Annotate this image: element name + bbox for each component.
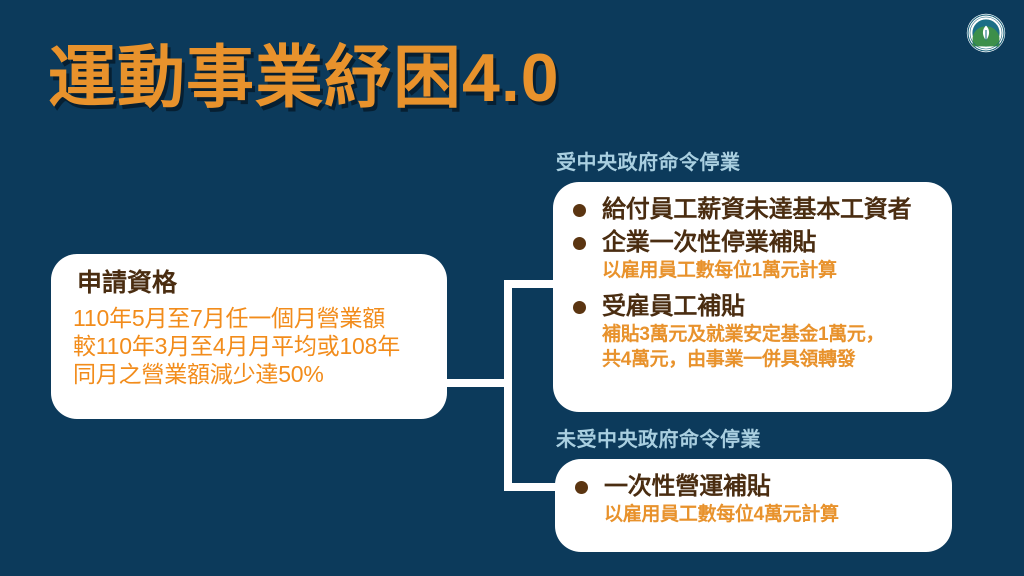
list-item-title: 受雇員工補貼 xyxy=(602,291,938,322)
not-mandated-suspension-card: 一次性營運補貼 以雇用員工數每位4萬元計算 xyxy=(555,459,952,552)
eligibility-card: 申請資格 110年5月至7月任一個月營業額 較110年3月至4月月平均或108年… xyxy=(51,254,447,419)
eligibility-heading: 申請資格 xyxy=(77,268,425,299)
section-label-not-mandated: 未受中央政府命令停業 xyxy=(556,423,761,452)
section-label-mandated: 受中央政府命令停業 xyxy=(556,146,741,175)
mandated-suspension-card: 給付員工薪資未達基本工資者 企業一次性停業補貼 以雇用員工數每位1萬元計算 受雇… xyxy=(553,182,952,412)
bullet-dot-icon xyxy=(573,301,586,314)
page-title: 運動事業紓困4.0 xyxy=(48,44,560,112)
bullet-dot-icon xyxy=(573,237,586,250)
list-item-subtext: 共4萬元，由事業一併具領轉發 xyxy=(602,348,938,372)
list-item: 給付員工薪資未達基本工資者 xyxy=(567,194,938,225)
list-item-title: 一次性營運補貼 xyxy=(604,471,938,502)
bullet-dot-icon xyxy=(575,481,588,494)
list-item: 一次性營運補貼 以雇用員工數每位4萬元計算 xyxy=(569,471,938,527)
bullet-dot-icon xyxy=(573,204,586,217)
list-item-title: 給付員工薪資未達基本工資者 xyxy=(602,196,911,223)
list-item-title: 企業一次性停業補貼 xyxy=(602,227,938,258)
slide-canvas: 運動事業紓困4.0 申請資格 110年5月至7月任一個月營業額 較110年3月至… xyxy=(0,0,1024,576)
eligibility-body-line-2: 較110年3月至4月月平均或108年 xyxy=(73,332,425,360)
ministry-of-education-emblem xyxy=(966,13,1006,53)
connector-line-trunk-horizontal xyxy=(440,379,512,387)
eligibility-body-line-1: 110年5月至7月任一個月營業額 xyxy=(73,304,425,332)
eligibility-body: 110年5月至7月任一個月營業額 較110年3月至4月月平均或108年 同月之營… xyxy=(73,304,425,388)
list-item-subtext: 補貼3萬元及就業安定基金1萬元， xyxy=(602,323,938,347)
list-item: 企業一次性停業補貼 以雇用員工數每位1萬元計算 xyxy=(567,227,938,283)
list-item-subtext: 以雇用員工數每位1萬元計算 xyxy=(602,259,938,283)
list-item-subtext: 以雇用員工數每位4萬元計算 xyxy=(604,503,938,527)
eligibility-body-line-3: 同月之營業額減少達50% xyxy=(73,360,425,388)
connector-line-trunk-vertical xyxy=(504,280,512,491)
list-item: 受雇員工補貼 補貼3萬元及就業安定基金1萬元， 共4萬元，由事業一併具領轉發 xyxy=(567,291,938,372)
